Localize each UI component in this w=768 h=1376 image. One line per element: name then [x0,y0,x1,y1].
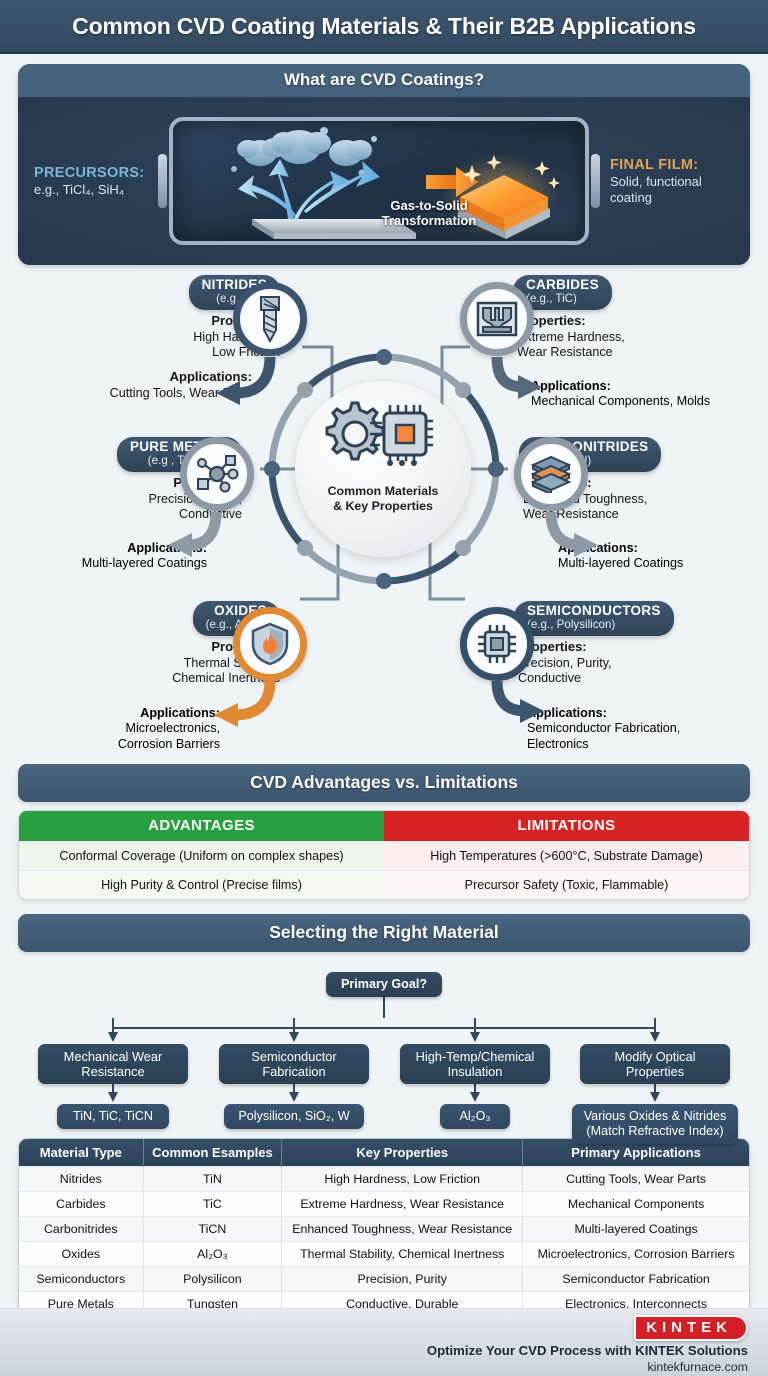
cell-material-type: Semiconductors [19,1267,143,1292]
precursors-examples: e.g., TiCl₄, SiH₄ [34,182,158,198]
semiconductors-example: (e.g., Polysilicon) [527,619,661,632]
advantage-row-2: High Purity & Control (Precise films) [19,870,384,899]
tree-goal-1-line2: Resistance [81,1064,144,1079]
carbonitrides-properties-line2: Wear Resistance [523,507,619,521]
tree-goal-high-temp-chemical[interactable]: High-Temp/Chemical Insulation [400,1044,550,1084]
cell-key-properties: Thermal Stability, Chemical Inertness [282,1242,523,1267]
cvd-process-diagram: PRECURSORS: e.g., TiCl₄, SiH₄ [18,97,750,265]
cvd-intro-panel: What are CVD Coatings? PRECURSORS: e.g.,… [18,64,750,265]
precursors-block: PRECURSORS: e.g., TiCl₄, SiH₄ [18,165,158,198]
carbides-properties: Properties: Extreme Hardness, Wear Resis… [513,313,768,360]
materials-wheel: Common Materials & Key Properties NITRID… [0,269,768,764]
selector-banner: Selecting the Right Material [18,914,750,952]
cell-primary-applications: Microelectronics, Corrosion Barriers [523,1242,749,1267]
table-row: Semiconductors Polysilicon Precision, Pu… [19,1267,749,1292]
tree-result-polysilicon[interactable]: Polysilicon, SiO₂, W [224,1104,364,1129]
drill-bit-icon [233,282,307,356]
hub-label-line2: & Key Properties [333,499,433,513]
table-row: Carbides TiC Extreme Hardness, Wear Resi… [19,1192,749,1217]
carbonitrides-applications-line1: Multi-layered Coatings [558,556,683,570]
limitations-header: LIMITATIONS [384,811,749,841]
cell-common-example: TiCN [143,1217,282,1242]
final-film-line1: Solid, functional [610,174,702,189]
semiconductors-applications-label: Applications: [527,706,607,720]
cell-key-properties: Precision, Purity [282,1267,523,1292]
cell-common-example: TiC [143,1192,282,1217]
page-footer: KINTEK Optimize Your CVD Process with KI… [0,1308,768,1376]
page-header: Common CVD Coating Materials & Their B2B… [0,0,768,54]
cell-common-example: TiN [143,1167,282,1192]
mold-die-icon [460,282,534,356]
tree-goal-3-line2: Insulation [448,1064,503,1079]
oxides-applications-line1: Microelectronics, [126,721,220,735]
tree-goal-mechanical-wear[interactable]: Mechanical Wear Resistance [38,1044,188,1084]
layered-stack-icon [514,437,588,511]
tree-result-4-line2: (Match Refractive Index) [586,1124,723,1138]
precursors-label: PRECURSORS: [34,165,158,181]
tree-result-4-line1: Various Oxides & Nitrides [584,1109,727,1123]
page-title: Common CVD Coating Materials & Their B2B… [72,13,696,40]
gas-to-solid-caption: Gas-to-Solid Transformation [369,199,489,229]
reactor-chamber: Gas-to-Solid Transformation [169,117,589,245]
final-film-label: FINAL FILM: [610,157,750,173]
gas-to-solid-line2: Transformation [382,213,477,228]
advantage-row-1: Conformal Coverage (Uniform on complex s… [19,841,384,870]
cell-key-properties: Extreme Hardness, Wear Resistance [282,1192,523,1217]
cell-primary-applications: Semiconductor Fabrication [523,1267,749,1292]
final-film-desc: Solid, functional coating [610,174,750,206]
pure-metals-applications: Applications: Multi-layered Coatings [0,541,207,572]
table-row: Carbonitrides TiCN Enhanced Toughness, W… [19,1217,749,1242]
microchip-icon [460,607,534,681]
carbides-title: CARBIDES [526,278,599,293]
cvd-panel-title: What are CVD Coatings? [18,64,750,97]
oxides-applications-label: Applications: [140,706,220,720]
col-common-examples: Common Esamples [143,1139,282,1167]
carbides-properties-line1: Extreme Hardness, [517,330,625,344]
semiconductors-applications-line2: Electronics [527,737,589,751]
carbides-applications-line1: Mechanical Components, Molds [531,394,710,408]
nitrides-applications-line1: Cutting Tools, Wear Parts [110,386,252,400]
cell-key-properties: High Hardness, Low Friction [282,1167,523,1192]
final-film-line2: coating [610,190,652,205]
semiconductors-properties: Properties: Precision, Purity, Conductiv… [514,639,768,686]
shield-flame-icon [233,607,307,681]
materials-summary-table: Material Type Common Esamples Key Proper… [18,1138,750,1317]
limitation-row-2: Precursor Safety (Toxic, Flammable) [384,870,749,899]
carbides-example: (e.g., TiC) [526,293,599,306]
cell-common-example: Polysilicon [143,1267,282,1292]
cell-common-example: Al₂O₃ [143,1242,282,1267]
tree-result-nitrides-carbides[interactable]: TiN, TiC, TiCN [57,1104,169,1129]
gas-to-solid-line1: Gas-to-Solid [390,198,467,213]
limitation-row-1: High Temperatures (>600°C, Substrate Dam… [384,841,749,870]
table-row: Oxides Al₂O₃ Thermal Stability, Chemical… [19,1242,749,1267]
carbides-applications: Applications: Mechanical Components, Mol… [531,379,768,410]
semiconductors-title: SEMICONDUCTORS [527,604,661,619]
node-semiconductors[interactable]: SEMICONDUCTORS (e.g., Polysilicon) Prope… [514,601,768,686]
tree-goal-2-line1: Semiconductor [251,1049,336,1064]
cell-material-type: Carbides [19,1192,143,1217]
final-film-block: FINAL FILM: Solid, functional coating [600,157,750,206]
tree-goal-modify-optical[interactable]: Modify Optical Properties [580,1044,730,1084]
cell-material-type: Oxides [19,1242,143,1267]
col-key-properties: Key Properties [282,1139,523,1167]
tree-result-oxides-nitrides[interactable]: Various Oxides & Nitrides (Match Refract… [572,1104,738,1144]
semiconductors-applications-line1: Semiconductor Fabrication, [527,721,680,735]
nitrides-applications: Applications: Cutting Tools, Wear Parts [0,369,280,401]
cell-material-type: Carbonitrides [19,1217,143,1242]
col-material-type: Material Type [19,1139,143,1167]
carbides-applications-label: Applications: [531,379,611,393]
oxides-applications: Applications: Microelectronics, Corrosio… [0,706,220,752]
footer-website[interactable]: kintekfurnace.com [647,1360,748,1374]
semiconductors-applications: Applications: Semiconductor Fabrication,… [527,706,767,752]
cell-key-properties: Enhanced Toughness, Wear Resistance [282,1217,523,1242]
cell-primary-applications: Cutting Tools, Wear Parts [523,1167,749,1192]
cell-material-type: Nitrides [19,1167,143,1192]
decision-tree: Primary Goal? Mechanical Wear Resistance… [0,958,768,1138]
carbonitrides-applications-label: Applications: [558,541,638,555]
kintek-logo[interactable]: KINTEK [634,1315,748,1341]
pure-metals-applications-line1: Multi-layered Coatings [82,556,207,570]
hub-label: Common Materials & Key Properties [295,484,471,514]
advantages-limitations-table: ADVANTAGES LIMITATIONS Conformal Coverag… [18,810,750,900]
inlet-port-icon [158,154,167,208]
cell-primary-applications: Mechanical Components [523,1192,749,1217]
node-carbides[interactable]: CARBIDES (e.g., TiC) Properties: Extreme… [513,275,768,360]
tree-goal-semiconductor-fab[interactable]: Semiconductor Fabrication [219,1044,369,1084]
semiconductors-badge: SEMICONDUCTORS (e.g., Polysilicon) [514,601,674,636]
molecule-node-icon [180,437,254,511]
carbonitrides-applications: Applications: Multi-layered Coatings [558,541,768,572]
carbides-properties-line2: Wear Resistance [517,345,613,359]
semiconductors-properties-line2: Conductive [518,671,581,685]
tree-goal-1-line1: Mechanical Wear [64,1049,163,1064]
footer-tagline: Optimize Your CVD Process with KINTEK So… [427,1343,748,1358]
oxides-applications-line2: Corrosion Barriers [118,737,220,751]
cell-primary-applications: Multi-layered Coatings [523,1217,749,1242]
advantages-banner: CVD Advantages vs. Limitations [18,764,750,802]
nitrides-applications-label: Applications: [170,369,252,384]
tree-goal-3-line1: High-Temp/Chemical [416,1049,535,1064]
hub-label-line1: Common Materials [328,484,439,498]
tree-result-alumina[interactable]: Al₂O₃ [440,1104,510,1129]
semiconductors-properties-line1: Precision, Purity, [518,656,612,670]
pure-metals-applications-label: Applications: [127,541,207,555]
tree-goal-2-line2: Fabrication [262,1064,325,1079]
table-row: Nitrides TiN High Hardness, Low Friction… [19,1167,749,1192]
hub-icon [318,397,448,467]
outlet-port-icon [591,154,600,208]
tree-goal-4-line2: Properties [626,1064,684,1079]
advantages-header: ADVANTAGES [19,811,384,841]
tree-root-primary-goal[interactable]: Primary Goal? [326,972,442,997]
tree-goal-4-line1: Modify Optical [614,1049,695,1064]
